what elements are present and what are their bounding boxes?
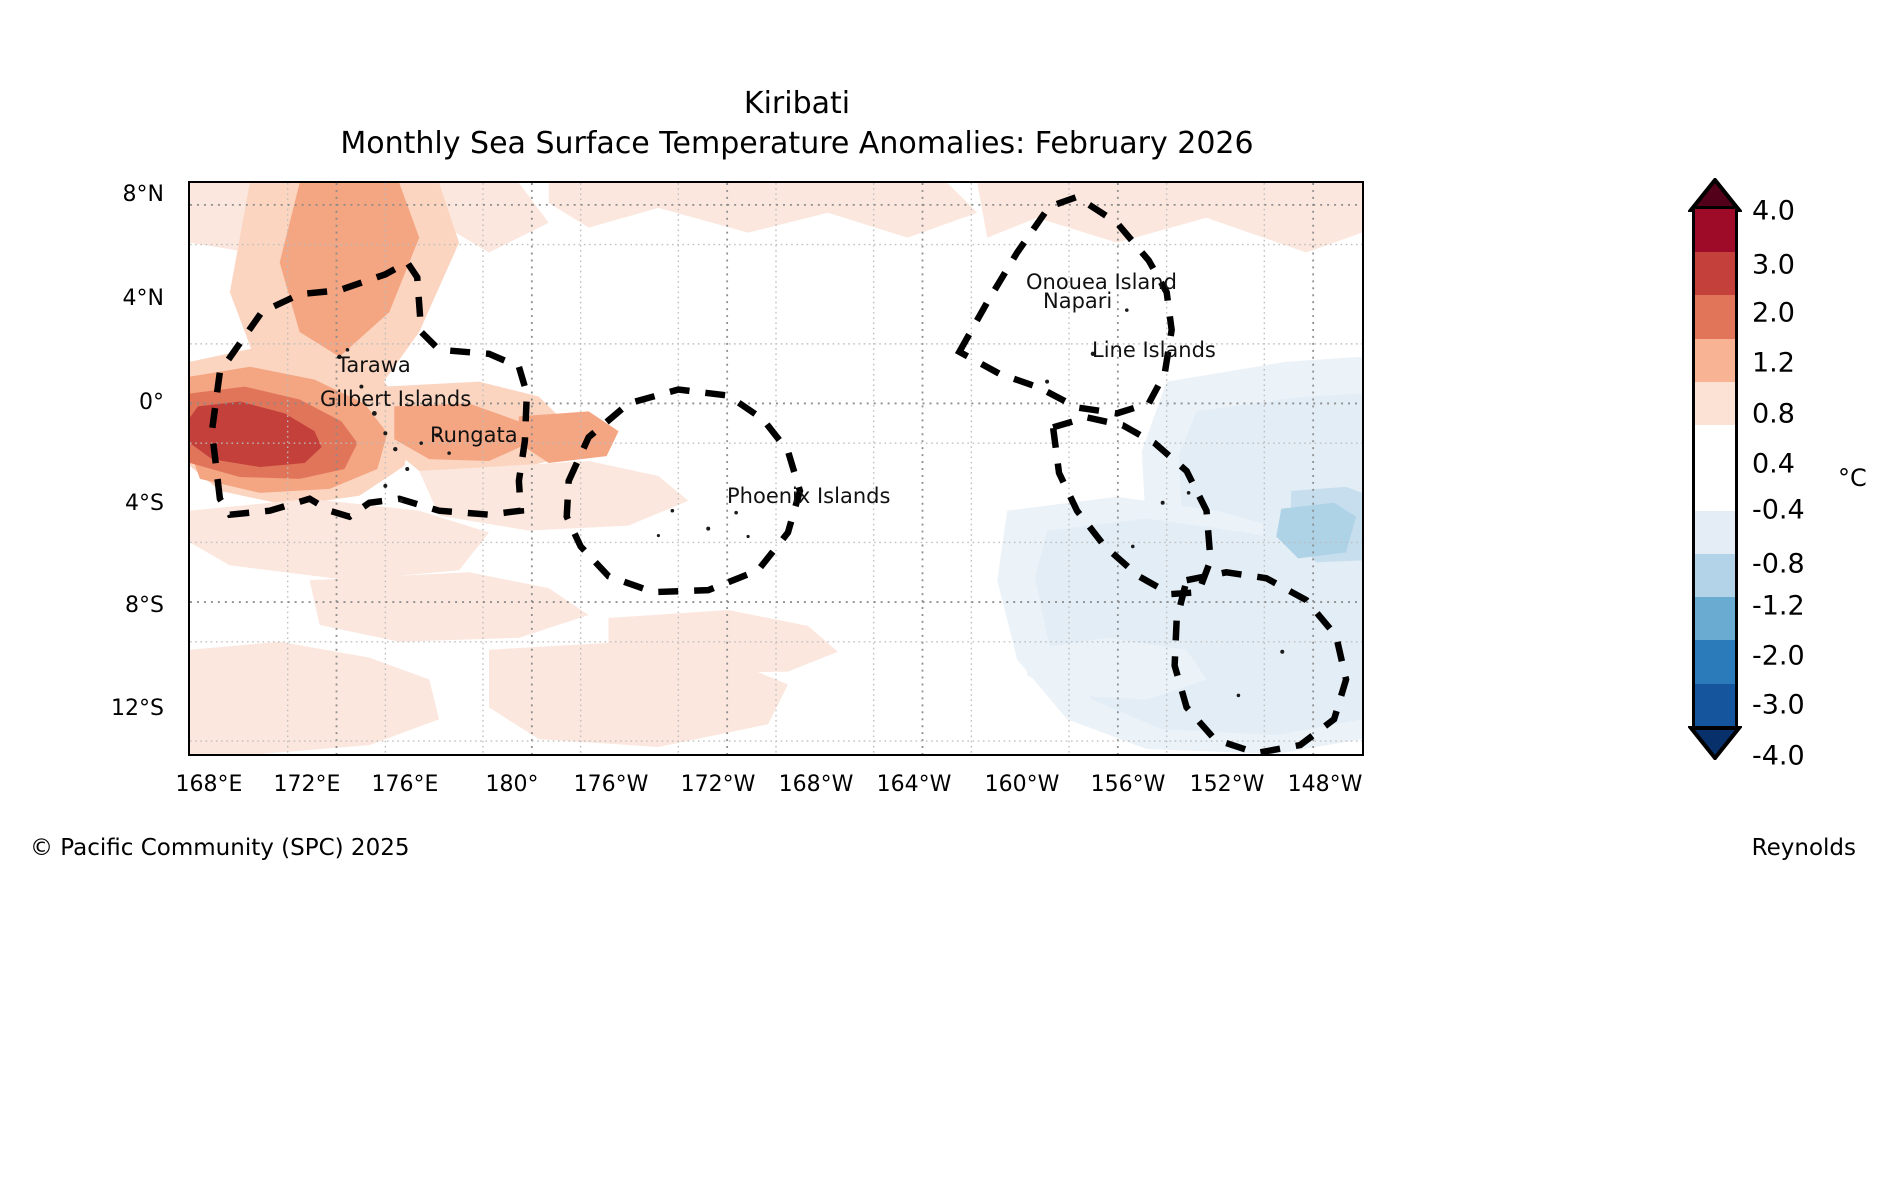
map-label-phoenix-islands: Phoenix Islands bbox=[727, 486, 890, 507]
y-tick-4n: 4°N bbox=[123, 288, 164, 310]
map-label-tarawa: Tarawa bbox=[337, 355, 411, 376]
colorbar[interactable] bbox=[1692, 178, 1738, 758]
y-tick-4s: 4°S bbox=[125, 493, 164, 515]
colorbar-extend-bottom bbox=[1688, 726, 1742, 760]
x-tick-164w: 164°W bbox=[877, 772, 952, 798]
cbar-tick-3p0: 3.0 bbox=[1752, 252, 1795, 279]
y-tick-0: 0° bbox=[139, 392, 164, 414]
y-tick-8s: 8°S bbox=[125, 595, 164, 617]
map-label-line-islands: Line Islands bbox=[1092, 340, 1216, 361]
colorbar-band-0p4to0p8 bbox=[1695, 382, 1735, 425]
colorbar-band-3to4 bbox=[1695, 209, 1735, 252]
map-label-gilbert-islands: Gilbert Islands bbox=[320, 389, 471, 410]
colorbar-gradient bbox=[1692, 206, 1738, 730]
page-subtitle: Monthly Sea Surface Temperature Anomalie… bbox=[0, 124, 1594, 164]
page-title: Kiribati bbox=[0, 84, 1594, 124]
x-tick-168w: 168°W bbox=[779, 772, 854, 798]
colorbar-band-2to3 bbox=[1695, 252, 1735, 295]
cbar-tick-m2p0: -2.0 bbox=[1752, 643, 1805, 670]
cbar-tick-m4p0: -4.0 bbox=[1752, 743, 1805, 770]
x-axis-tick-labels: 168°E 172°E 176°E 180° 176°W 172°W 168°W… bbox=[0, 772, 1882, 812]
cbar-tick-0p8: 0.8 bbox=[1752, 401, 1795, 428]
x-tick-176w: 176°W bbox=[574, 772, 649, 798]
x-tick-148w: 148°W bbox=[1288, 772, 1363, 798]
x-tick-152w: 152°W bbox=[1190, 772, 1265, 798]
colorbar-band-neutral bbox=[1695, 425, 1735, 511]
y-tick-8n: 8°N bbox=[123, 184, 164, 206]
map-label-napari: Napari bbox=[1043, 291, 1112, 312]
cbar-tick-m1p2: -1.2 bbox=[1752, 593, 1805, 620]
sst-anomaly-map bbox=[190, 183, 1362, 754]
cbar-tick-1p2: 1.2 bbox=[1752, 350, 1795, 377]
cbar-tick-2p0: 2.0 bbox=[1752, 300, 1795, 327]
x-tick-172w: 172°W bbox=[681, 772, 756, 798]
colorbar-band-m0p8tom0p4 bbox=[1695, 511, 1735, 554]
y-tick-12s: 12°S bbox=[111, 698, 164, 720]
copyright-text: © Pacific Community (SPC) 2025 bbox=[30, 834, 409, 862]
x-tick-156w: 156°W bbox=[1091, 772, 1166, 798]
x-tick-176e: 176°E bbox=[372, 772, 439, 798]
x-tick-168e: 168°E bbox=[176, 772, 243, 798]
colorbar-band-0p8to1p2 bbox=[1695, 339, 1735, 382]
colorbar-band-m1p2tom0p8 bbox=[1695, 554, 1735, 597]
map-label-rungata: Rungata bbox=[430, 425, 518, 446]
chart-title-block: Kiribati Monthly Sea Surface Temperature… bbox=[0, 84, 1594, 164]
cbar-tick-m3p0: -3.0 bbox=[1752, 692, 1805, 719]
x-tick-180: 180° bbox=[486, 772, 539, 798]
data-source-label: Reynolds bbox=[1752, 834, 1856, 862]
x-tick-172e: 172°E bbox=[274, 772, 341, 798]
x-tick-160w: 160°W bbox=[985, 772, 1060, 798]
colorbar-band-m4tom3 bbox=[1695, 684, 1735, 727]
cbar-tick-m0p4: -0.4 bbox=[1752, 497, 1805, 524]
cbar-tick-m0p8: -0.8 bbox=[1752, 551, 1805, 578]
y-axis-tick-labels: 8°N 4°N 0° 4°S 8°S 12°S bbox=[0, 0, 176, 1180]
colorbar-band-1p2to2 bbox=[1695, 295, 1735, 338]
colorbar-unit-label: °C bbox=[1838, 466, 1867, 490]
cbar-tick-0p4: 0.4 bbox=[1752, 451, 1795, 478]
colorbar-band-m3tom2 bbox=[1695, 640, 1735, 683]
cbar-tick-4p0: 4.0 bbox=[1752, 198, 1795, 225]
colorbar-band-m2tom1p2 bbox=[1695, 597, 1735, 640]
map-plot-area[interactable]: Tarawa Gilbert Islands Rungata Phoenix I… bbox=[188, 181, 1364, 756]
